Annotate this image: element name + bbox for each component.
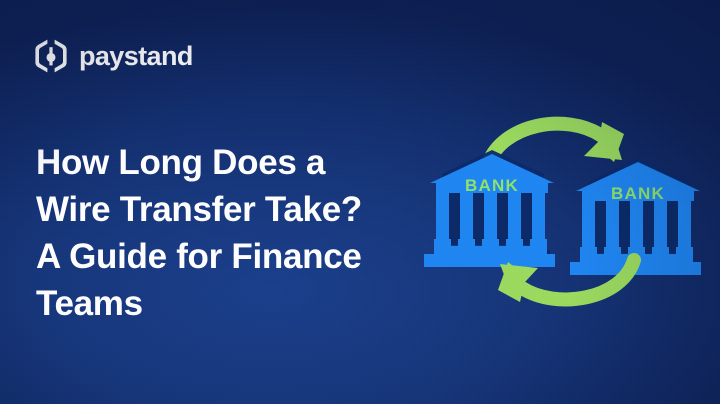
headline-line-1: How Long Does a — [36, 139, 416, 186]
headline-line-2: Wire Transfer Take? — [36, 186, 416, 233]
headline-line-4: Teams — [36, 280, 416, 327]
headline-line-3: A Guide for Finance — [36, 233, 416, 280]
paystand-wordmark: paystand — [79, 43, 193, 70]
bank-label-right: BANK — [611, 184, 665, 203]
paystand-logo-icon — [34, 38, 68, 74]
bank-label-left: BANK — [465, 176, 519, 195]
brand-lockup: paystand — [34, 38, 193, 74]
wire-transfer-illustration: BANK BANK — [416, 104, 708, 316]
bank-building-left: BANK — [424, 150, 555, 267]
social-card-canvas: paystand How Long Does a Wire Transfer T… — [0, 0, 720, 404]
page-title: How Long Does a Wire Transfer Take? A Gu… — [36, 139, 416, 327]
